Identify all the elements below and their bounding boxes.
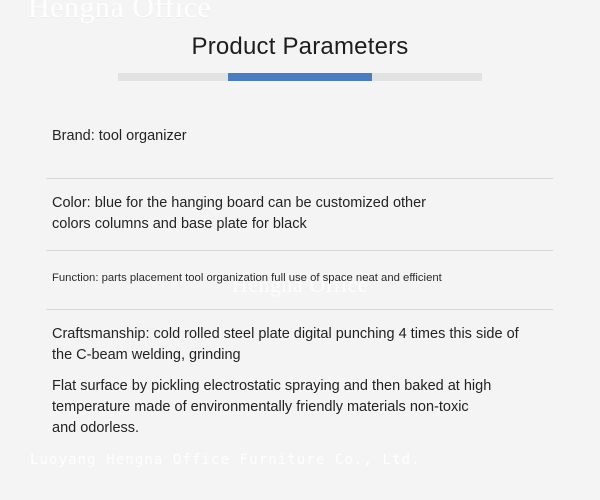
parameter-text-color: Color: blue for the hanging board can be… <box>46 193 553 235</box>
title-accent-bar-fill <box>228 73 372 81</box>
watermark-top-left: Hengna Office <box>28 0 211 25</box>
parameter-text-craftsmanship: Craftsmanship: cold rolled steel plate d… <box>46 324 553 366</box>
spacer-brand <box>46 147 553 178</box>
title-accent-bar <box>118 73 482 81</box>
parameter-row-function: Function: parts placement tool organizat… <box>46 251 553 287</box>
page-title: Product Parameters <box>0 33 600 61</box>
parameters-list: Brand: tool organizer Color: blue for th… <box>46 126 553 439</box>
parameter-text-function: Function: parts placement tool organizat… <box>46 269 553 287</box>
product-parameters-page: Hengna Office Hengna Office Luoyang Heng… <box>0 0 600 500</box>
spacer-color <box>46 235 553 250</box>
parameter-row-craftsmanship: Craftsmanship: cold rolled steel plate d… <box>46 310 553 366</box>
parameter-row-color: Color: blue for the hanging board can be… <box>46 179 553 235</box>
parameter-text-brand: Brand: tool organizer <box>46 126 553 147</box>
parameter-row-brand: Brand: tool organizer <box>46 126 553 147</box>
spacer-function <box>46 287 553 309</box>
parameter-row-finish: Flat surface by pickling electrostatic s… <box>46 366 553 439</box>
watermark-footer-company: Luoyang Hengna Office Furniture Co., Ltd… <box>30 452 421 468</box>
parameter-text-finish: Flat surface by pickling electrostatic s… <box>46 376 553 439</box>
